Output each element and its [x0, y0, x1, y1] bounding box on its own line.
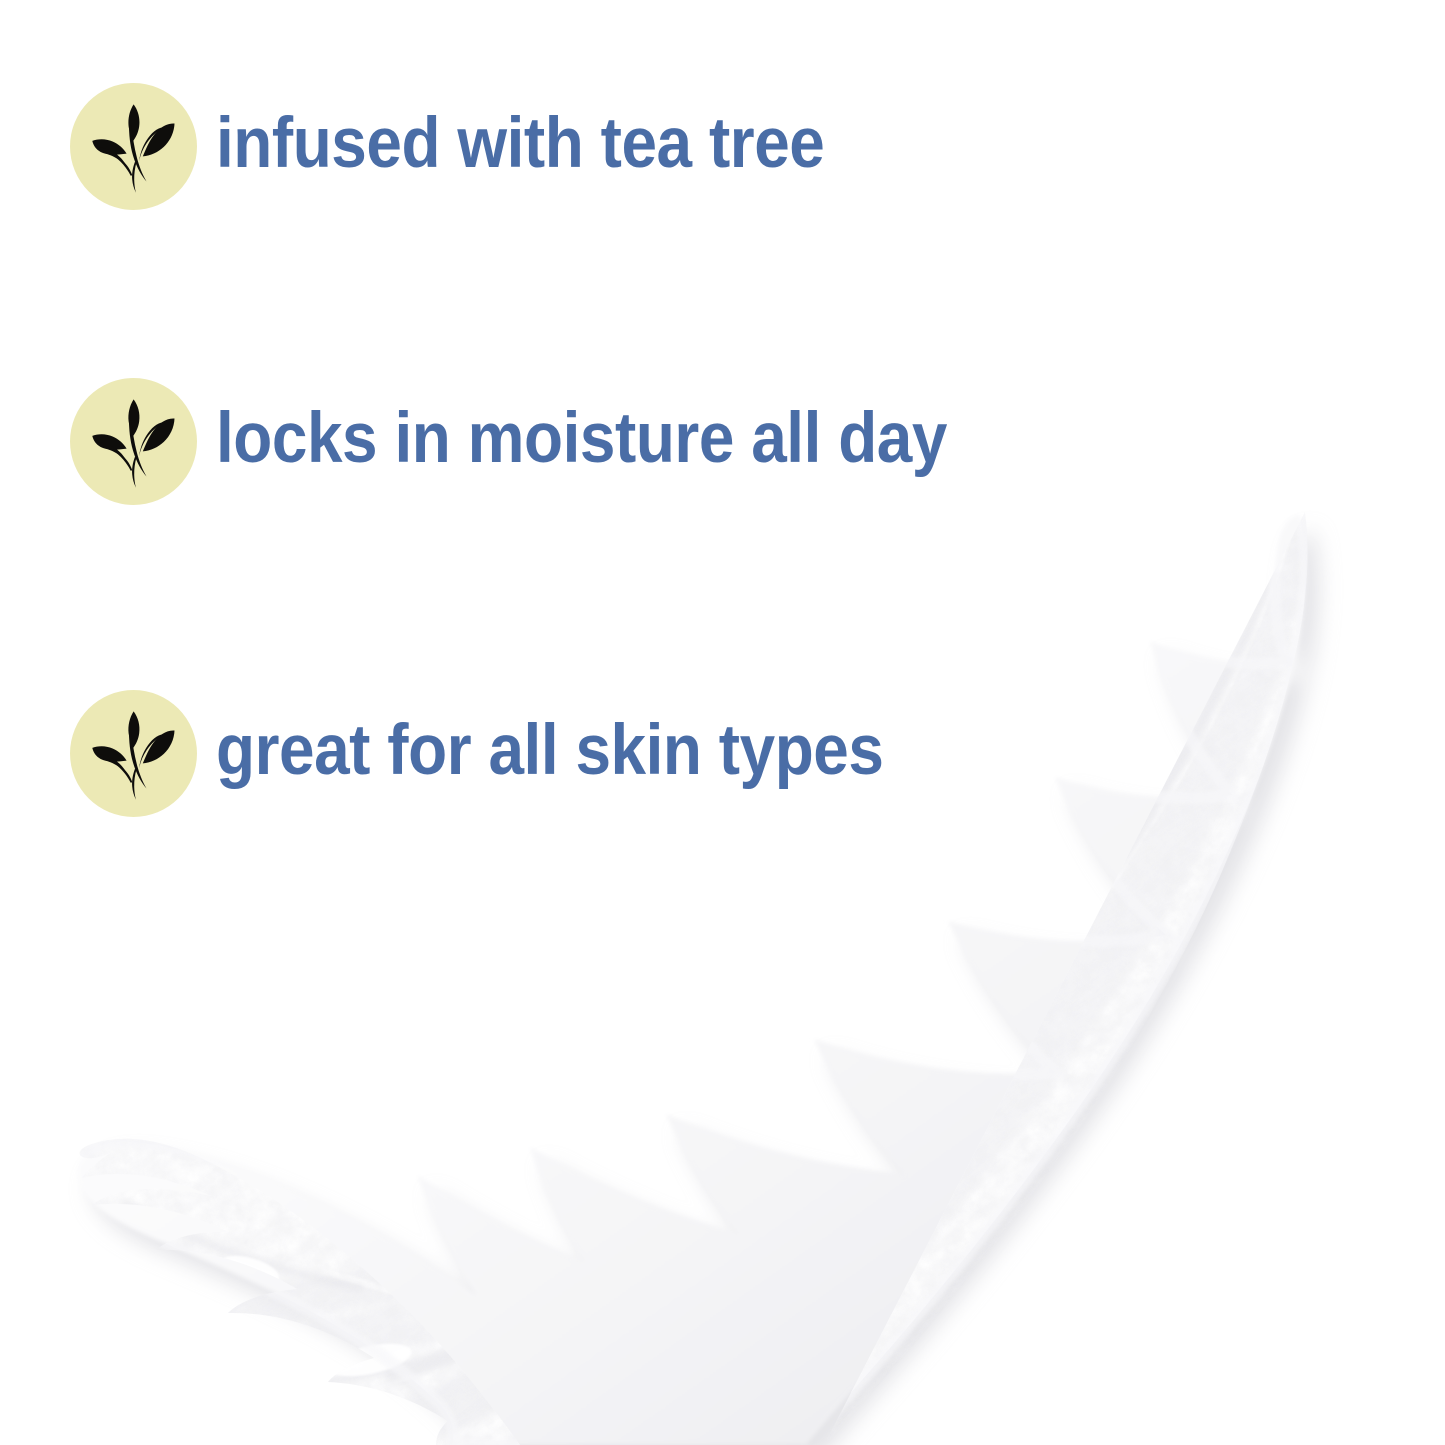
feature-bullet-2: great for all skin types — [70, 690, 958, 817]
feature-bullet-0: infused with tea tree — [70, 83, 892, 210]
tea-leaf-icon — [70, 690, 197, 817]
cream-dropshadow — [91, 531, 1319, 1445]
tea-leaf-icon — [70, 378, 197, 505]
feature-bullet-1: locks in moisture all day — [70, 378, 1028, 505]
cream-body — [77, 515, 1305, 1445]
feature-bullet-label: great for all skin types — [216, 715, 883, 792]
tea-leaf-badge — [70, 378, 197, 505]
tea-leaf-badge — [70, 83, 197, 210]
product-feature-graphic: infused with tea tree locks in moisture … — [0, 0, 1445, 1445]
feature-bullet-label: locks in moisture all day — [216, 403, 947, 480]
cream-edge-feather — [77, 515, 1305, 1445]
tea-leaf-icon — [70, 83, 197, 210]
feature-bullet-label: infused with tea tree — [216, 108, 824, 185]
tea-leaf-badge — [70, 690, 197, 817]
